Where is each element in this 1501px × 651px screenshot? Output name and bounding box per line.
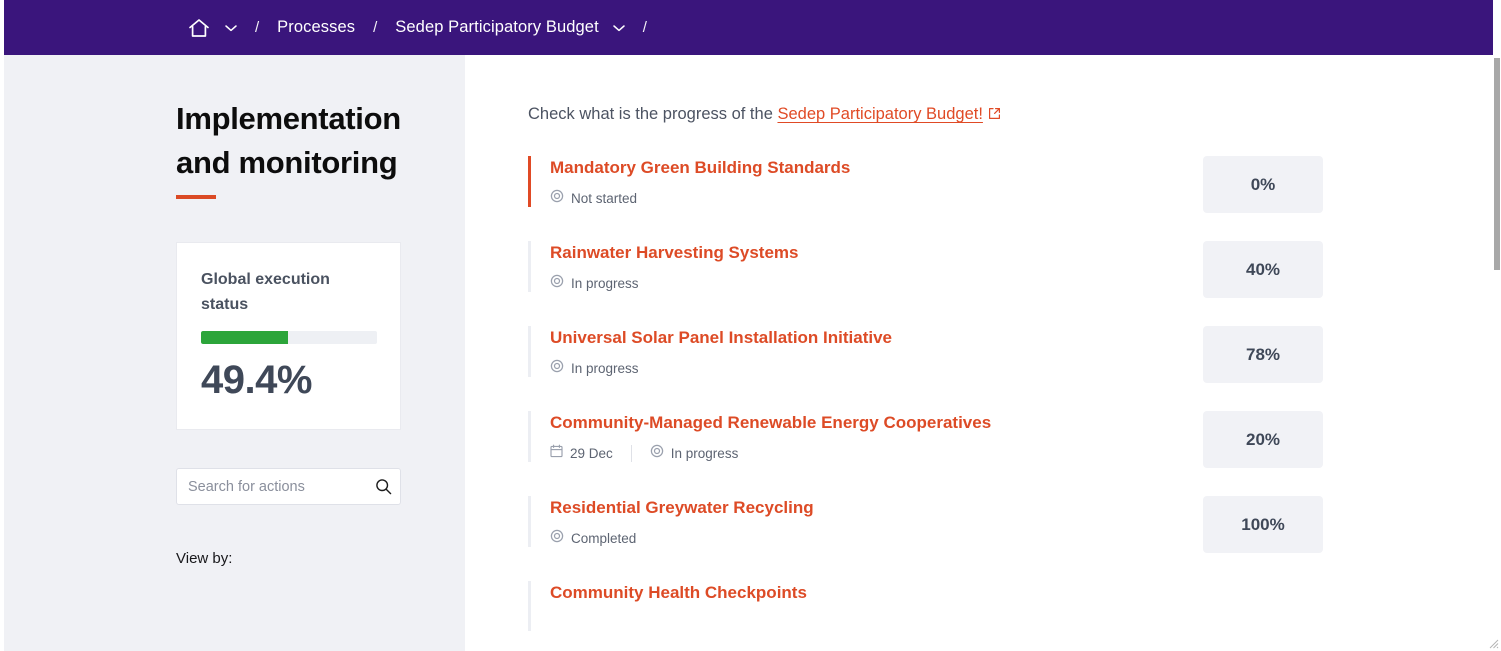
intro-text: Check what is the progress of the Sedep … (528, 102, 1493, 127)
sedep-participatory-budget-link[interactable]: Sedep Participatory Budget! (777, 105, 982, 123)
action-row: Rainwater Harvesting SystemsIn progress4… (528, 241, 1493, 298)
action-status-text: In progress (671, 445, 739, 462)
search-icon[interactable] (375, 478, 392, 496)
action-title-link[interactable]: Rainwater Harvesting Systems (550, 241, 799, 265)
card-label: Global execution status (201, 267, 361, 317)
action-row: Residential Greywater RecyclingCompleted… (528, 496, 1493, 553)
breadcrumb-bar: / Processes / Sedep Participatory Budget… (4, 0, 1493, 55)
action-row: Community-Managed Renewable Energy Coope… (528, 411, 1493, 468)
action-item: Rainwater Harvesting SystemsIn progress (528, 241, 1190, 292)
meta-divider (631, 445, 632, 462)
title-underline-accent (176, 195, 216, 199)
main-content: Check what is the progress of the Sedep … (465, 55, 1493, 651)
breadcrumb-chevron-down-icon[interactable] (613, 24, 625, 32)
resize-grip-icon[interactable] (1485, 635, 1499, 649)
action-status: In progress (550, 274, 639, 293)
search-box[interactable] (176, 468, 401, 505)
action-status: In progress (650, 444, 739, 463)
action-title-link[interactable]: Residential Greywater Recycling (550, 496, 814, 520)
action-progress-badge: 0% (1203, 156, 1323, 213)
home-chevron-down-icon[interactable] (225, 24, 237, 32)
calendar-icon (550, 444, 563, 463)
sidebar: Implementation and monitoring Global exe… (4, 55, 465, 651)
action-meta: 29 DecIn progress (550, 445, 1190, 462)
view-by-label: View by: (176, 550, 465, 567)
action-progress-badge: 100% (1203, 496, 1323, 553)
action-item: Mandatory Green Building StandardsNot st… (528, 156, 1190, 207)
action-meta: In progress (550, 275, 1190, 292)
action-status-text: In progress (571, 275, 639, 292)
action-item: Residential Greywater RecyclingCompleted (528, 496, 1190, 547)
action-item: Universal Solar Panel Installation Initi… (528, 326, 1190, 377)
action-status-text: In progress (571, 360, 639, 377)
actions-list: Mandatory Green Building StandardsNot st… (528, 156, 1493, 651)
intro-prefix: Check what is the progress of the (528, 105, 777, 123)
global-execution-status-card: Global execution status 49.4% (176, 242, 401, 430)
target-icon (550, 274, 564, 293)
action-progress-badge: 20% (1203, 411, 1323, 468)
action-title-link[interactable]: Community-Managed Renewable Energy Coope… (550, 411, 991, 435)
breadcrumb-separator-2: / (373, 19, 377, 36)
target-icon (650, 444, 664, 463)
action-status: In progress (550, 359, 639, 378)
action-title-link[interactable]: Mandatory Green Building Standards (550, 156, 850, 180)
home-icon[interactable] (187, 16, 211, 40)
action-status-text: Not started (571, 190, 637, 207)
action-item: Community Health Checkpoints (528, 581, 1190, 631)
action-meta: In progress (550, 360, 1190, 377)
target-icon (550, 359, 564, 378)
page-body: Implementation and monitoring Global exe… (0, 55, 1501, 651)
global-progress-bar-fill (201, 331, 288, 344)
action-row: Universal Solar Panel Installation Initi… (528, 326, 1493, 383)
global-progress-percent: 49.4% (201, 358, 376, 403)
app-page: / Processes / Sedep Participatory Budget… (0, 0, 1501, 651)
action-row: Community Health Checkpoints (528, 581, 1493, 638)
search-input[interactable] (188, 479, 375, 495)
breadcrumb-item-processes[interactable]: Processes (277, 18, 355, 37)
action-progress-badge: 40% (1203, 241, 1323, 298)
target-icon (550, 189, 564, 208)
action-date: 29 Dec (550, 444, 613, 463)
action-status: Completed (550, 529, 636, 548)
page-title: Implementation and monitoring (176, 97, 446, 185)
global-progress-bar (201, 331, 377, 344)
breadcrumb-separator-3: / (643, 19, 647, 36)
action-progress-badge: 78% (1203, 326, 1323, 383)
action-meta: Completed (550, 530, 1190, 547)
action-date-text: 29 Dec (570, 445, 613, 462)
breadcrumb-separator-1: / (255, 19, 259, 36)
external-link-icon[interactable] (988, 103, 1001, 127)
vertical-scrollbar-thumb[interactable] (1494, 58, 1500, 270)
action-meta: Not started (550, 190, 1190, 207)
action-progress-badge (1203, 581, 1323, 638)
action-status: Not started (550, 189, 637, 208)
action-title-link[interactable]: Universal Solar Panel Installation Initi… (550, 326, 892, 350)
breadcrumb-item-sedep-participatory-budget[interactable]: Sedep Participatory Budget (395, 18, 598, 37)
action-item: Community-Managed Renewable Energy Coope… (528, 411, 1190, 462)
action-title-link[interactable]: Community Health Checkpoints (550, 581, 807, 605)
target-icon (550, 529, 564, 548)
action-status-text: Completed (571, 530, 636, 547)
breadcrumb: / Processes / Sedep Participatory Budget… (187, 16, 665, 40)
action-row: Mandatory Green Building StandardsNot st… (528, 156, 1493, 213)
